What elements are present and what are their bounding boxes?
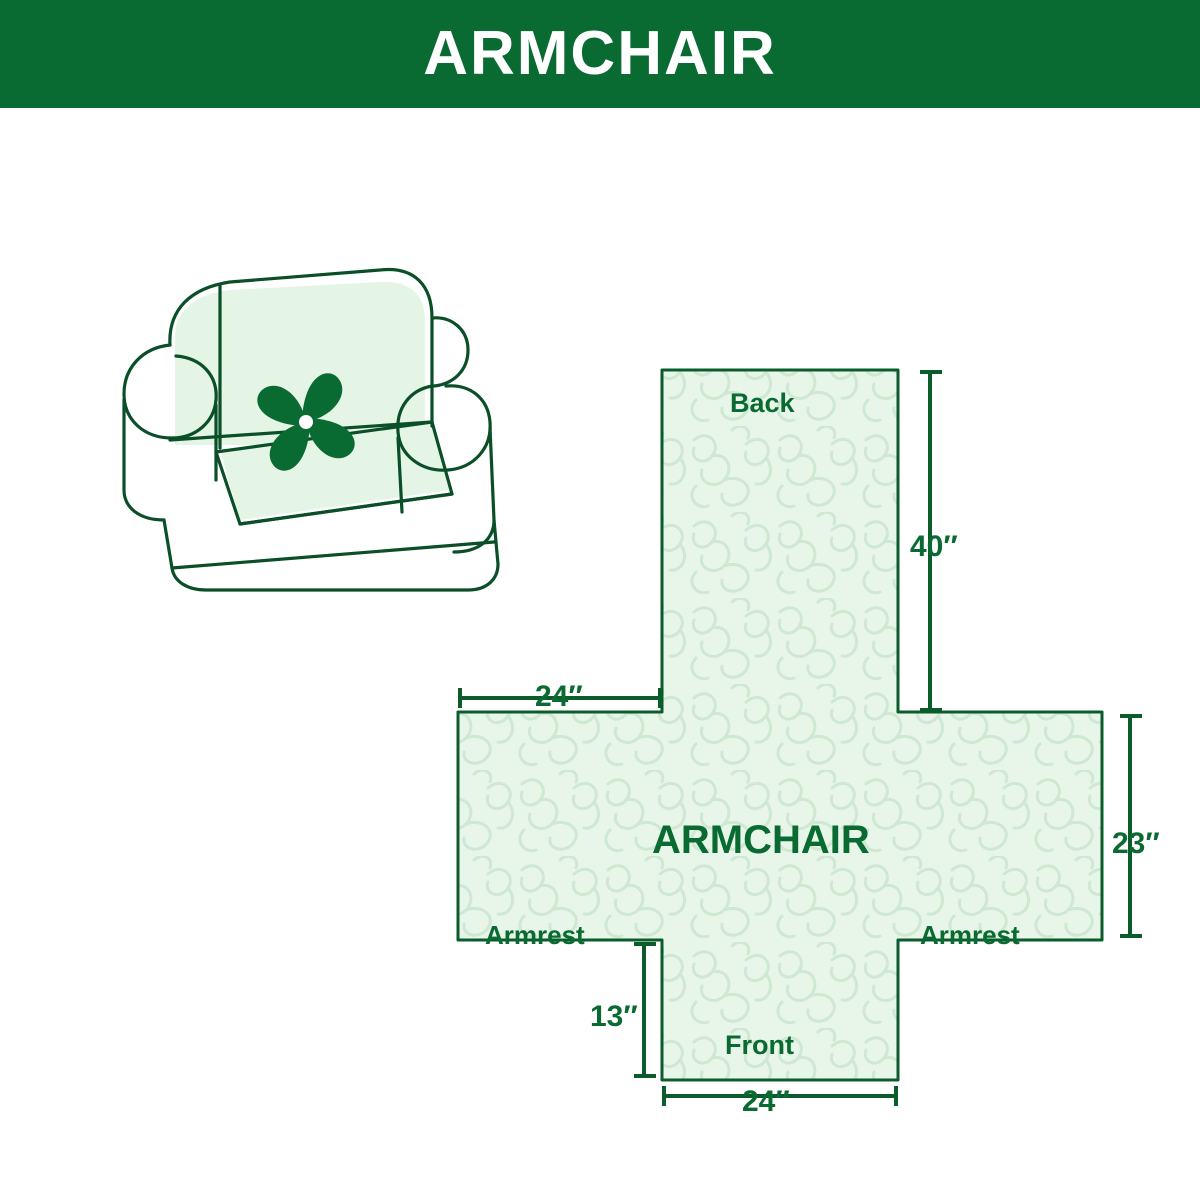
label-armrest-right: Armrest [920,920,1020,951]
cover-diagram-svg [430,340,1190,1140]
dimension-body-height: 23″ [1112,827,1160,861]
dimension-front-width: 24″ [742,1085,790,1119]
label-armrest-left: Armrest [485,920,585,951]
dimension-back-height: 40″ [910,530,958,564]
page-root: ARMCHAIR [0,0,1200,1200]
header-bar: ARMCHAIR [0,0,1200,108]
cover-diagram: Back ARMCHAIR Armrest Armrest Front 40″ … [430,340,1190,1140]
dimension-front-height: 13″ [590,1000,638,1034]
label-front: Front [725,1030,794,1061]
cover-shape [458,370,1102,1080]
dimension-back-width: 24″ [535,680,583,714]
label-back: Back [730,388,795,419]
label-center-armchair: ARMCHAIR [652,818,870,863]
page-title: ARMCHAIR [423,23,777,85]
